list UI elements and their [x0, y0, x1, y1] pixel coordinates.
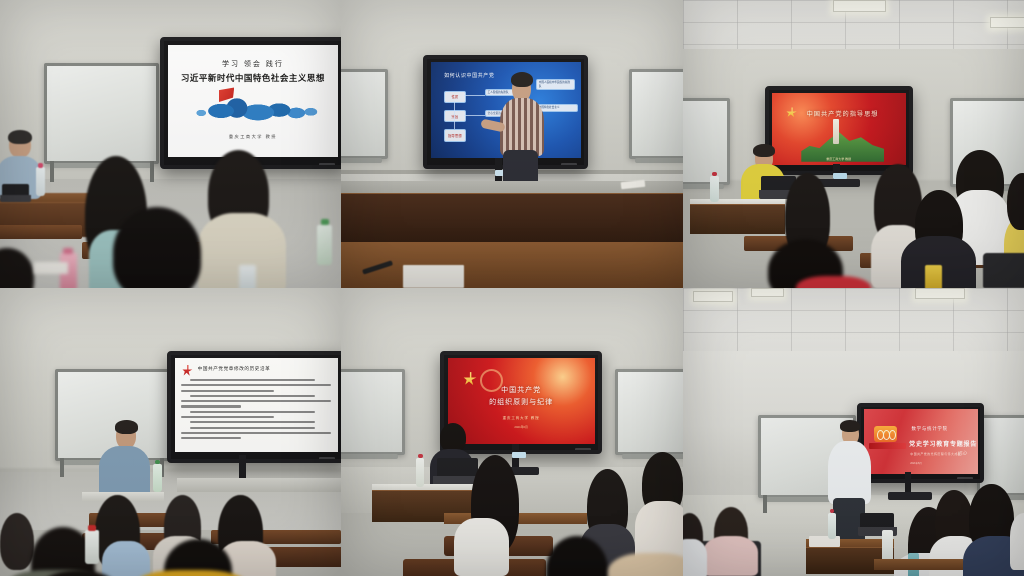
- water-bottle: [317, 225, 332, 265]
- lecturer-laptop: [437, 458, 478, 487]
- student-white-top: [454, 518, 509, 576]
- bottle-cap: [88, 525, 96, 531]
- text-line: [181, 416, 274, 418]
- speaker-white-shirt: [828, 441, 871, 504]
- ceiling-light: [915, 288, 965, 299]
- slide-line1: 数学与统计学院: [911, 426, 947, 432]
- smartboard-screen: 中国共产党的指导思想 重庆工商大学 教授: [772, 93, 906, 166]
- water-bottle: [36, 167, 45, 196]
- collage-panel-bottom-center: 中国共产党 的组织原则与纪律 重庆工商大学 教授 2021年6月: [341, 288, 683, 576]
- slide-title: 中国共产党的指导思想: [807, 109, 879, 118]
- student-body: [683, 539, 707, 576]
- slide-line1: 中国共产党: [448, 385, 595, 395]
- speaker-hair: [840, 420, 860, 432]
- slide-line2: 的组织原则与纪律: [448, 397, 595, 407]
- lecturer-desk-front: [690, 204, 785, 234]
- centenary-badge-icon: [874, 426, 897, 443]
- text-line: [181, 432, 331, 434]
- slide-party-constitution-history: 中国共产党党章修改的历史沿革: [175, 358, 338, 451]
- ceiling-light: [833, 0, 886, 12]
- whiteboard-right: [977, 415, 1024, 496]
- smartboard: 数学与统计学院 党史学习教育专题报告 中国共产党的光辉历程与伟大成就 初心 20…: [857, 403, 984, 483]
- collage-panel-bottom-right: 数学与统计学院 党史学习教育专题报告 中国共产党的光辉历程与伟大成就 初心 20…: [683, 288, 1024, 576]
- tv-brand-mark: [561, 163, 577, 166]
- speaker-hair: [511, 72, 533, 87]
- laptop-lid: [437, 458, 478, 476]
- laptop-lid: [860, 513, 894, 527]
- slide-org-principles: 中国共产党 的组织原则与纪律 重庆工商大学 教授 2021年6月: [448, 358, 595, 444]
- flow-node-nature: 性质: [444, 91, 466, 104]
- chair-back: [983, 253, 1024, 288]
- slide-title: 中国共产党党章修改的历史沿革: [198, 366, 271, 372]
- calligraphy-signature: 初心: [957, 449, 968, 457]
- red-ribbon: [869, 443, 906, 449]
- slide-line2: 党史学习教育专题报告: [909, 439, 977, 448]
- slide-guiding-ideology: 中国共产党的指导思想 重庆工商大学 教授: [772, 93, 906, 166]
- smartboard: 中国共产党党章修改的历史沿革: [167, 351, 341, 463]
- laptop-lid: [2, 184, 29, 195]
- water-bottle: [710, 176, 719, 202]
- lecturer-hair: [8, 130, 33, 144]
- slide-subtitle: 重庆工商大学 教授: [168, 134, 338, 140]
- collage-panel-top-left: 学习 领会 践行 习近平新时代中国特色社会主义思想 重庆工商大学 教授: [0, 0, 341, 288]
- text-line: [181, 400, 331, 402]
- whiteboard-right: [629, 69, 683, 159]
- slide-line2: 习近平新时代中国特色社会主义思想: [168, 72, 338, 84]
- party-emblem-icon: [785, 107, 797, 118]
- stand-shelf-item: [512, 452, 526, 458]
- slide-subtitle: 重庆工商大学 教授: [448, 415, 595, 420]
- slide-subtitle: 中国共产党的光辉历程与伟大成就: [910, 452, 961, 456]
- text-line: [190, 427, 314, 429]
- smartboard-screen: 中国共产党党章修改的历史沿革: [175, 358, 338, 451]
- flow-connector: [464, 95, 485, 96]
- flow-connector: [464, 115, 485, 116]
- text-line: [190, 379, 314, 381]
- tv-brand-mark: [575, 448, 591, 451]
- water-bottle: [828, 513, 836, 539]
- tv-stand-foot: [888, 492, 932, 499]
- text-line: [190, 421, 314, 423]
- slide-line1: 学习 领会 践行: [168, 59, 338, 69]
- whiteboard-leg: [763, 495, 767, 512]
- water-bottle: [153, 464, 162, 493]
- stand-shelf-item: [833, 173, 847, 179]
- whiteboard-right: [615, 369, 683, 456]
- ceiling-light: [751, 288, 784, 297]
- smartboard: 中国共产党的指导思想 重庆工商大学 教授: [765, 86, 913, 175]
- lecturer-hair: [115, 420, 138, 433]
- collage-panel-top-center: 如何认识中国共产党 性质 宗旨 指导思想 工人阶级的先锋队 全心全意为人民服务 …: [341, 0, 683, 288]
- whiteboard-leg: [50, 161, 54, 182]
- bottle-cap: [321, 219, 330, 225]
- bottle-cap: [63, 248, 73, 254]
- tv-brand-mark: [957, 477, 973, 480]
- flow-node-ideology: 指导思想: [444, 129, 466, 142]
- bench: [0, 225, 82, 239]
- ceiling-grid: [683, 288, 1024, 351]
- lecturer-laptop: [2, 184, 29, 201]
- foreground-student-hair: [113, 207, 202, 288]
- student-body: [102, 541, 150, 576]
- slide-subtitle: 重庆工商大学 教授: [772, 157, 906, 162]
- slide-date: 2021年6月: [448, 425, 595, 429]
- flow-node-purpose: 宗旨: [444, 110, 466, 123]
- badge-ring: [889, 430, 896, 440]
- flow-note-3: 中国人民和中华民族的先锋队: [536, 79, 575, 90]
- lecturer-hair: [753, 144, 774, 157]
- smartboard: 学习 领会 践行 习近平新时代中国特色社会主义思想 重庆工商大学 教授: [160, 37, 341, 169]
- collage-panel-top-right: 中国共产党的指导思想 重庆工商大学 教授: [683, 0, 1024, 288]
- pagoda-icon: [833, 119, 838, 144]
- whiteboard-left: [683, 98, 730, 185]
- whiteboard: [44, 63, 159, 164]
- lecturer-hair: [440, 423, 466, 452]
- slide-date: 2021年6月: [910, 461, 921, 465]
- collage-panel-bottom-left: 中国共产党党章修改的历史沿革: [0, 288, 341, 576]
- ceiling: [683, 288, 1024, 351]
- stage-platform: [177, 478, 341, 492]
- slide-body-text: [181, 379, 331, 446]
- slide-title: 如何认识中国共产党: [444, 72, 494, 79]
- smartboard-screen: 数学与统计学院 党史学习教育专题报告 中国共产党的光辉历程与伟大成就 初心 20…: [864, 409, 978, 474]
- whiteboard-leg: [60, 458, 64, 477]
- notebook: [34, 262, 68, 274]
- tv-brand-mark: [319, 457, 335, 460]
- yellow-tumbler: [925, 265, 942, 288]
- party-emblem-icon: [462, 371, 477, 386]
- foreground-student-red-shirt: [796, 276, 871, 288]
- text-line: [181, 384, 331, 386]
- bottle-cap: [155, 460, 160, 465]
- whiteboard-tray: [635, 158, 683, 163]
- whiteboard-tray: [341, 454, 398, 459]
- flow-connector: [454, 101, 455, 129]
- text-line: [181, 437, 241, 439]
- text-line: [190, 395, 314, 397]
- ink-wash-artwork: [192, 95, 324, 124]
- white-tumbler: [882, 530, 893, 562]
- notepad: [403, 265, 465, 288]
- conference-desk-front: [341, 193, 683, 246]
- bottle-cap: [418, 454, 423, 459]
- text-line: [190, 411, 314, 413]
- tv-stand-post: [239, 455, 246, 481]
- ceiling-light: [990, 17, 1024, 28]
- text-line: [181, 390, 274, 392]
- text-line: [181, 405, 241, 407]
- whiteboard-leg: [150, 161, 154, 182]
- bottle-cap: [712, 172, 717, 176]
- laptop-base: [0, 195, 31, 201]
- water-bottle: [85, 530, 99, 565]
- whiteboard-left: [341, 369, 405, 456]
- slide-xi-thought: 学习 领会 践行 习近平新时代中国特色社会主义思想 重庆工商大学 教授: [168, 45, 338, 156]
- slide-party-history-report: 数学与统计学院 党史学习教育专题报告 中国共产党的光辉历程与伟大成就 初心 20…: [864, 409, 978, 474]
- smartboard-screen: 中国共产党 的组织原则与纪律 重庆工商大学 教授 2021年6月: [448, 358, 595, 444]
- speaker-plaid-shirt: [500, 98, 544, 156]
- ceiling-light: [693, 291, 733, 302]
- smartboard-screen: 学习 领会 践行 习近平新时代中国特色社会主义思想 重庆工商大学 教授: [168, 45, 338, 156]
- whiteboard-tray: [341, 158, 382, 163]
- tv-brand-mark: [319, 163, 335, 166]
- student-body: [703, 536, 758, 576]
- foreground-table: [341, 242, 683, 288]
- student-body: [1010, 513, 1024, 571]
- water-bottle: [239, 265, 256, 288]
- student-desk: [874, 559, 963, 571]
- photo-collage: 学习 领会 践行 习近平新时代中国特色社会主义思想 重庆工商大学 教授: [0, 0, 1024, 576]
- student-hair: [0, 513, 34, 571]
- whiteboard-left: [341, 69, 388, 159]
- water-bottle: [416, 458, 424, 487]
- bottle-cap: [38, 163, 43, 168]
- bottle-cap: [830, 509, 835, 513]
- party-emblem-icon: [181, 364, 192, 376]
